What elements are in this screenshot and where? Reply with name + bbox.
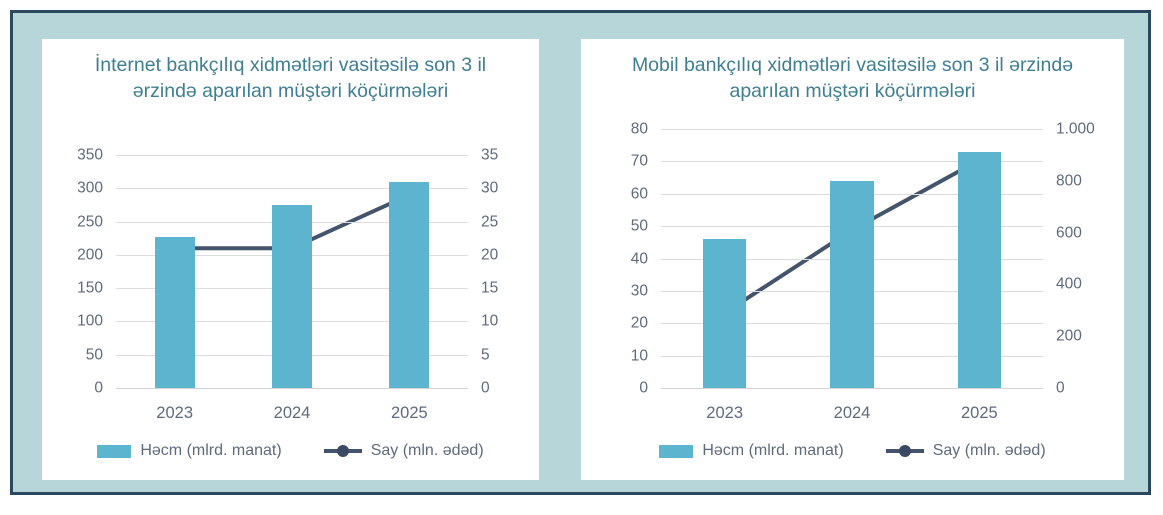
y-axis-tick-left: 350 bbox=[77, 147, 103, 163]
gridline bbox=[116, 155, 468, 156]
bar-2025[interactable] bbox=[958, 152, 1001, 388]
y-axis-tick-left: 0 bbox=[94, 380, 103, 396]
y-axis-tick-right: 800 bbox=[1056, 173, 1082, 189]
y-axis-tick-left: 20 bbox=[631, 316, 648, 332]
legend-item-line[interactable]: Say (mln. ədəd) bbox=[324, 442, 484, 460]
y-axis-tick-right: 30 bbox=[481, 181, 498, 197]
y-axis-tick-left: 30 bbox=[631, 283, 648, 299]
y-axis-tick-left: 50 bbox=[86, 347, 103, 363]
x-axis-label-2024: 2024 bbox=[274, 404, 311, 423]
y-axis-tick-right: 10 bbox=[481, 314, 498, 330]
legend-mobile-banking: Həcm (mlrd. manat) Say (mln. ədəd) bbox=[581, 442, 1124, 460]
chart-panel-internet-banking: İnternet bankçılıq xidmətləri vasitəsilə… bbox=[42, 39, 539, 480]
y-axis-tick-right: 0 bbox=[1056, 380, 1065, 396]
bar-2024[interactable] bbox=[272, 205, 312, 388]
y-axis-tick-right: 25 bbox=[481, 214, 498, 230]
legend-item-bar[interactable]: Həcm (mlrd. manat) bbox=[97, 442, 281, 460]
chart-panels: İnternet bankçılıq xidmətləri vasitəsilə… bbox=[13, 13, 1148, 492]
y-axis-tick-left: 300 bbox=[77, 181, 103, 197]
legend-label-bar: Həcm (mlrd. manat) bbox=[140, 442, 281, 460]
y-axis-tick-right: 20 bbox=[481, 247, 498, 263]
bar-2023[interactable] bbox=[155, 237, 195, 388]
bar-2024[interactable] bbox=[830, 181, 873, 388]
chart-title-internet-banking: İnternet bankçılıq xidmətləri vasitəsilə… bbox=[42, 53, 539, 104]
y-axis-tick-right: 15 bbox=[481, 280, 498, 296]
y-axis-tick-left: 60 bbox=[631, 186, 648, 202]
y-axis-tick-left: 0 bbox=[639, 380, 648, 396]
y-axis-tick-right: 5 bbox=[481, 347, 490, 363]
chart-title-mobile-banking: Mobil bankçılıq xidmətləri vasitəsilə so… bbox=[581, 53, 1124, 104]
chart-panel-mobile-banking: Mobil bankçılıq xidmətləri vasitəsilə so… bbox=[581, 39, 1124, 480]
x-axis-label-2025: 2025 bbox=[961, 404, 998, 423]
x-axis-labels-internet-banking: 202320242025 bbox=[116, 404, 468, 426]
legend-internet-banking: Həcm (mlrd. manat) Say (mln. ədəd) bbox=[42, 442, 539, 460]
chart-frame: İnternet bankçılıq xidmətləri vasitəsilə… bbox=[10, 10, 1151, 495]
y-axis-tick-left: 40 bbox=[631, 251, 648, 267]
x-axis-label-2023: 2023 bbox=[156, 404, 193, 423]
y-axis-tick-right: 600 bbox=[1056, 225, 1082, 241]
line-marker-icon bbox=[324, 445, 362, 457]
plot-area-mobile-banking: 202320242025 010203040506070800200400600… bbox=[661, 129, 1043, 388]
y-axis-tick-left: 50 bbox=[631, 218, 648, 234]
y-axis-tick-right: 0 bbox=[481, 380, 490, 396]
gridline bbox=[661, 388, 1043, 389]
bar-2025[interactable] bbox=[389, 182, 429, 388]
x-axis-labels-mobile-banking: 202320242025 bbox=[661, 404, 1043, 426]
x-axis-label-2024: 2024 bbox=[834, 404, 871, 423]
line-marker-icon bbox=[886, 445, 924, 457]
y-axis-tick-left: 100 bbox=[77, 314, 103, 330]
y-axis-tick-left: 200 bbox=[77, 247, 103, 263]
legend-label-line: Say (mln. ədəd) bbox=[371, 442, 484, 460]
bar-swatch-icon bbox=[97, 445, 131, 458]
y-axis-tick-right: 200 bbox=[1056, 328, 1082, 344]
y-axis-tick-right: 1.000 bbox=[1056, 121, 1095, 137]
legend-label-bar: Həcm (mlrd. manat) bbox=[702, 442, 843, 460]
legend-item-line[interactable]: Say (mln. ədəd) bbox=[886, 442, 1046, 460]
y-axis-tick-left: 150 bbox=[77, 280, 103, 296]
y-axis-tick-left: 250 bbox=[77, 214, 103, 230]
legend-item-bar[interactable]: Həcm (mlrd. manat) bbox=[659, 442, 843, 460]
x-axis-label-2023: 2023 bbox=[706, 404, 743, 423]
y-axis-tick-left: 70 bbox=[631, 154, 648, 170]
bar-swatch-icon bbox=[659, 445, 693, 458]
gridline bbox=[116, 388, 468, 389]
y-axis-tick-left: 10 bbox=[631, 348, 648, 364]
legend-label-line: Say (mln. ədəd) bbox=[933, 442, 1046, 460]
x-axis-label-2025: 2025 bbox=[391, 404, 428, 423]
gridline bbox=[661, 129, 1043, 130]
y-axis-tick-right: 35 bbox=[481, 147, 498, 163]
bar-2023[interactable] bbox=[703, 239, 746, 388]
y-axis-tick-right: 400 bbox=[1056, 277, 1082, 293]
plot-area-internet-banking: 202320242025 050100150200250300350051015… bbox=[116, 155, 468, 388]
y-axis-tick-left: 80 bbox=[631, 121, 648, 137]
